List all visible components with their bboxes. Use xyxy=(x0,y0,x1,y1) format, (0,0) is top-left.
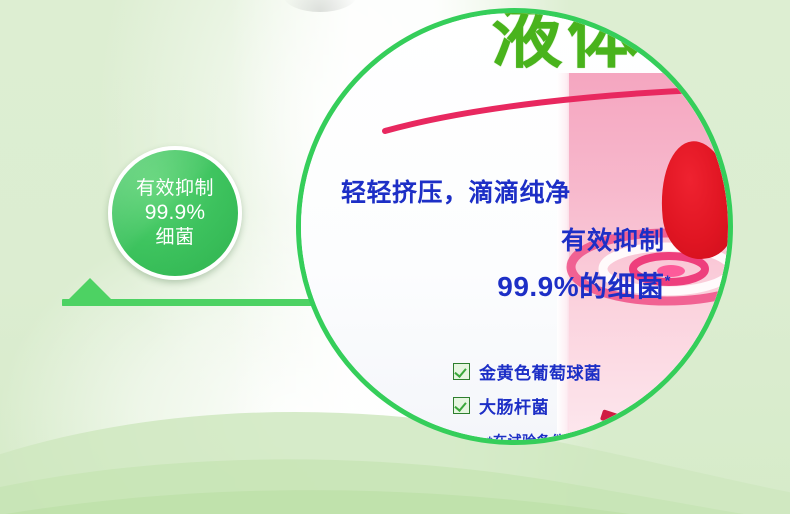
pink-swoosh-curve-icon xyxy=(381,87,731,137)
promo-banner: 有效抑制 99.9% 细菌 液体 轻轻挤压，滴滴纯净 有效抑制 99.9%的细菌… xyxy=(0,0,790,514)
package-green-headline: 液体 xyxy=(491,8,643,82)
list-item: 大肠杆菌 xyxy=(453,393,602,418)
copy-line-2: 有效抑制 xyxy=(341,221,681,257)
copy-line-3-text: 99.9%的细菌 xyxy=(497,271,664,302)
badge-line-2: 99.9% xyxy=(145,200,206,226)
badge-line-1: 有效抑制 xyxy=(136,177,214,200)
bacteria-list: 金黄色葡萄球菌 大肠杆菌 xyxy=(453,359,602,427)
checkbox-checked-icon xyxy=(453,397,470,414)
copy-line-1: 轻轻挤压，滴滴纯净 xyxy=(341,173,681,209)
copy-line-3: 99.9%的细菌* xyxy=(341,265,681,305)
list-item: 金黄色葡萄球菌 xyxy=(453,359,602,384)
copy-line-3-marker: * xyxy=(665,273,671,290)
package-copy-block: 轻轻挤压，滴滴纯净 有效抑制 99.9%的细菌* xyxy=(341,173,681,305)
badge-line-3: 细菌 xyxy=(155,226,194,249)
list-item-label: 金黄色葡萄球菌 xyxy=(479,359,602,384)
efficacy-badge[interactable]: 有效抑制 99.9% 细菌 xyxy=(108,146,242,280)
magnifier-circle[interactable]: 液体 轻轻挤压，滴滴纯净 有效抑制 99.9%的细菌* 金黄色葡萄球菌 大肠杆菌… xyxy=(296,8,733,445)
triangle-pointer-icon xyxy=(62,278,118,306)
list-item-label: 大肠杆菌 xyxy=(479,393,549,418)
checkbox-checked-icon xyxy=(453,363,470,380)
